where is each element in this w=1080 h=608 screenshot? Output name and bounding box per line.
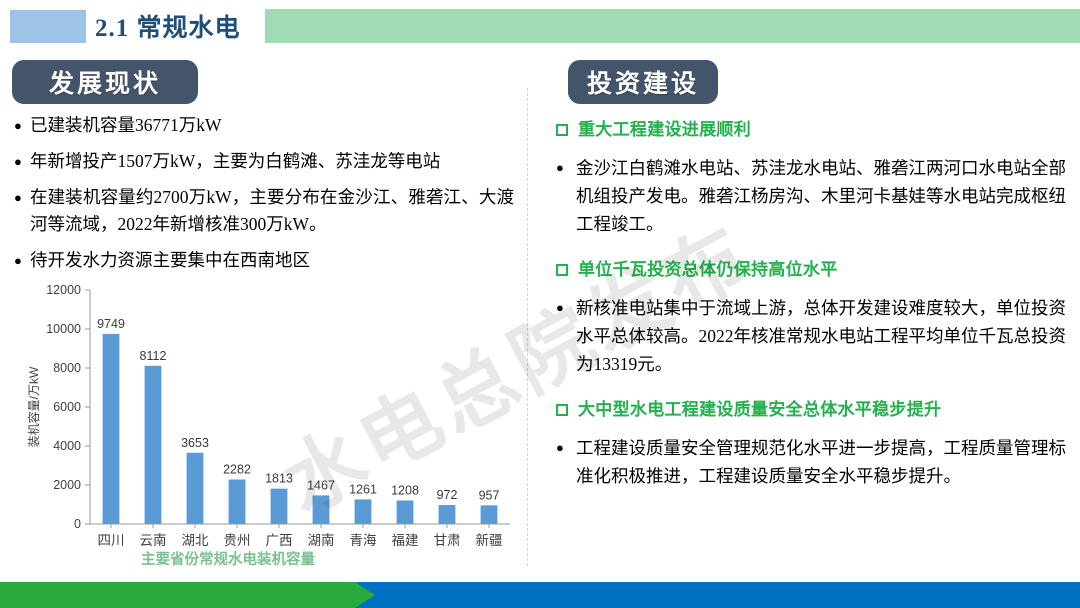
list-item-text: 年新增投产1507万kW，主要为白鹤滩、苏洼龙等电站 <box>30 148 440 175</box>
svg-text:1208: 1208 <box>391 483 419 497</box>
svg-text:福建: 福建 <box>392 533 419 548</box>
list-item: ● 待开发水力资源主要集中在西南地区 <box>14 247 514 274</box>
header-green-bar <box>265 9 1080 43</box>
svg-text:1467: 1467 <box>307 478 335 492</box>
subsection-heading-text: 单位千瓦投资总体仍保持高位水平 <box>578 258 838 282</box>
svg-text:2000: 2000 <box>53 478 81 492</box>
bullet-icon: ● <box>556 294 576 322</box>
subsection-heading: 单位千瓦投资总体仍保持高位水平 <box>556 258 1066 282</box>
paragraph: ● 新核准电站集中于流域上游，总体开发建设难度较大，单位投资水平总体较高。202… <box>556 294 1066 378</box>
slide: 2.1 常规水电 发展现状 ● 已建装机容量36771万kW ● 年新增投产15… <box>0 0 1080 608</box>
bullet-icon: ● <box>14 148 30 175</box>
page-title: 2.1 常规水电 <box>95 8 241 44</box>
list-item: ● 在建装机容量约2700万kW，主要分布在金沙江、雅砻江、大渡河等流域，202… <box>14 184 514 238</box>
chart-caption: 主要省份常规水电装机容量 <box>18 548 438 569</box>
svg-text:6000: 6000 <box>53 400 81 414</box>
svg-text:新疆: 新疆 <box>476 533 503 548</box>
svg-text:9749: 9749 <box>97 317 125 331</box>
investment-construction-content: 重大工程建设进展顺利 ● 金沙江白鹤滩水电站、苏洼龙水电站、雅砻江两河口水电站全… <box>556 118 1066 510</box>
svg-text:4000: 4000 <box>53 439 81 453</box>
bullet-icon: ● <box>556 434 576 462</box>
paragraph-text: 工程建设质量安全管理规范化水平进一步提高，工程质量管理标准化积极推进，工程建设质… <box>576 434 1066 490</box>
bullet-icon: ● <box>14 247 30 274</box>
svg-text:云南: 云南 <box>140 533 167 548</box>
column-divider <box>527 88 528 566</box>
svg-text:甘肃: 甘肃 <box>434 533 461 548</box>
subsection-heading-text: 大中型水电工程建设质量安全总体水平稳步提升 <box>578 398 941 422</box>
square-bullet-icon <box>556 124 568 136</box>
svg-text:12000: 12000 <box>46 283 81 297</box>
bar-chart-canvas: 020004000600080001000012000装机容量/万kW9749四… <box>18 272 518 572</box>
footer-green-chevron <box>0 582 375 608</box>
square-bullet-icon <box>556 404 568 416</box>
svg-text:广西: 广西 <box>266 533 293 548</box>
section-pill-development-status: 发展现状 <box>12 60 198 104</box>
svg-text:装机容量/万kW: 装机容量/万kW <box>26 366 41 447</box>
list-item-text: 在建装机容量约2700万kW，主要分布在金沙江、雅砻江、大渡河等流域，2022年… <box>30 184 514 238</box>
list-item-text: 待开发水力资源主要集中在西南地区 <box>30 247 310 274</box>
development-status-list: ● 已建装机容量36771万kW ● 年新增投产1507万kW，主要为白鹤滩、苏… <box>14 112 514 283</box>
svg-text:贵州: 贵州 <box>224 533 251 548</box>
svg-text:1813: 1813 <box>265 472 293 486</box>
svg-text:四川: 四川 <box>98 533 125 548</box>
subsection-heading-text: 重大工程建设进展顺利 <box>578 118 751 142</box>
svg-text:3653: 3653 <box>181 436 209 450</box>
footer-bar <box>0 582 1080 608</box>
square-bullet-icon <box>556 264 568 276</box>
svg-text:湖北: 湖北 <box>182 533 209 548</box>
list-item-text: 已建装机容量36771万kW <box>30 112 222 139</box>
svg-text:972: 972 <box>437 488 458 502</box>
paragraph: ● 金沙江白鹤滩水电站、苏洼龙水电站、雅砻江两河口水电站全部机组投产发电。雅砻江… <box>556 154 1066 238</box>
bullet-icon: ● <box>14 112 30 139</box>
svg-text:8112: 8112 <box>140 349 167 363</box>
svg-text:0: 0 <box>74 517 81 531</box>
list-item: ● 年新增投产1507万kW，主要为白鹤滩、苏洼龙等电站 <box>14 148 514 175</box>
bar-chart: 020004000600080001000012000装机容量/万kW9749四… <box>18 272 518 572</box>
svg-text:8000: 8000 <box>53 361 81 375</box>
svg-text:957: 957 <box>479 488 500 502</box>
paragraph-text: 金沙江白鹤滩水电站、苏洼龙水电站、雅砻江两河口水电站全部机组投产发电。雅砻江杨房… <box>576 154 1066 238</box>
paragraph-text: 新核准电站集中于流域上游，总体开发建设难度较大，单位投资水平总体较高。2022年… <box>576 294 1066 378</box>
subsection-heading: 大中型水电工程建设质量安全总体水平稳步提升 <box>556 398 1066 422</box>
subsection-heading: 重大工程建设进展顺利 <box>556 118 1066 142</box>
list-item: ● 已建装机容量36771万kW <box>14 112 514 139</box>
bullet-icon: ● <box>556 154 576 182</box>
svg-text:青海: 青海 <box>350 533 377 548</box>
section-pill-investment-construction: 投资建设 <box>568 60 718 104</box>
svg-text:2282: 2282 <box>223 463 251 477</box>
paragraph: ● 工程建设质量安全管理规范化水平进一步提高，工程质量管理标准化积极推进，工程建… <box>556 434 1066 490</box>
bullet-icon: ● <box>14 184 30 211</box>
svg-text:1261: 1261 <box>349 482 377 496</box>
header-blue-block <box>10 10 86 43</box>
svg-text:湖南: 湖南 <box>308 533 335 548</box>
svg-text:10000: 10000 <box>46 322 81 336</box>
